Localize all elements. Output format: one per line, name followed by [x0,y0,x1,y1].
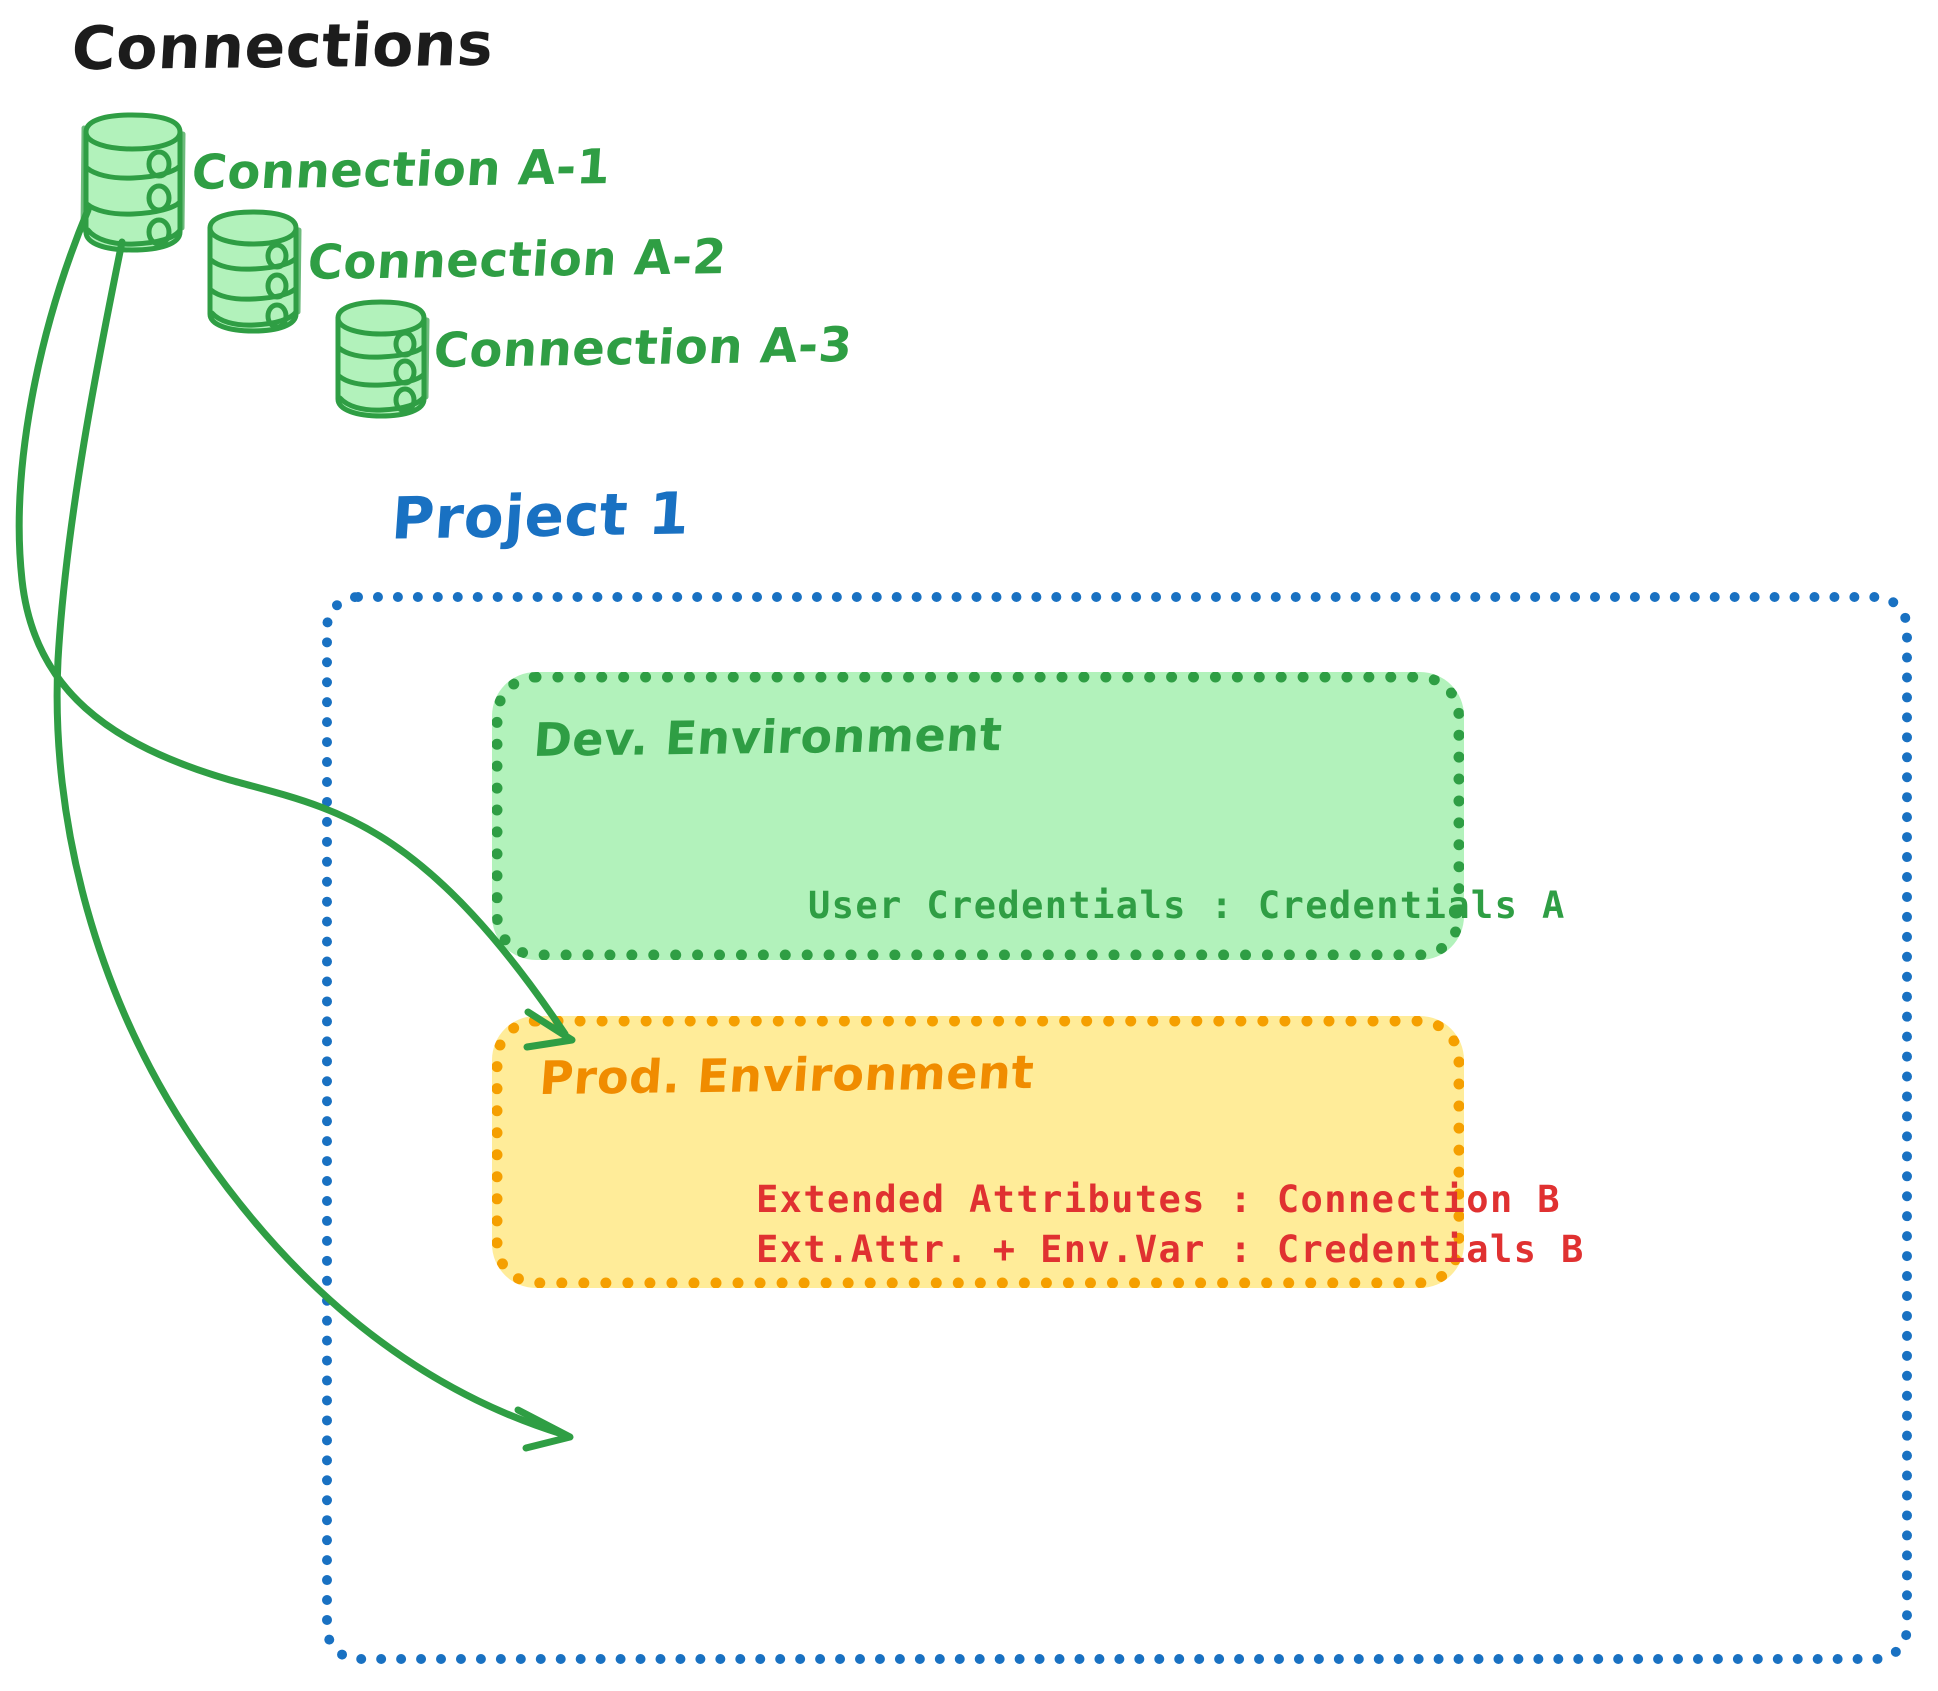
database-icon-connection-a-1[interactable] [70,108,200,258]
diagram-canvas: Connections [0,0,1938,1691]
prod-environment-credentials-line: Ext.Attr. + Env.Var : Credentials B [756,1228,1585,1271]
dev-environment-title: Dev. Environment [532,707,1004,767]
project-title: Project 1 [389,479,692,552]
database-icon-connection-a-3[interactable] [324,296,442,422]
prod-environment-title: Prod. Environment [538,1045,1036,1105]
dev-environment-credentials-line: User Credentials : Credentials A [808,884,1566,927]
connection-label-a-1: Connection A-1 [190,139,613,201]
connection-label-a-2: Connection A-2 [306,229,729,291]
page-title: Connections [70,10,496,84]
database-icon-connection-a-2[interactable] [196,206,314,338]
connection-label-a-3: Connection A-3 [432,317,855,379]
prod-environment-attributes-line: Extended Attributes : Connection B [756,1178,1561,1221]
